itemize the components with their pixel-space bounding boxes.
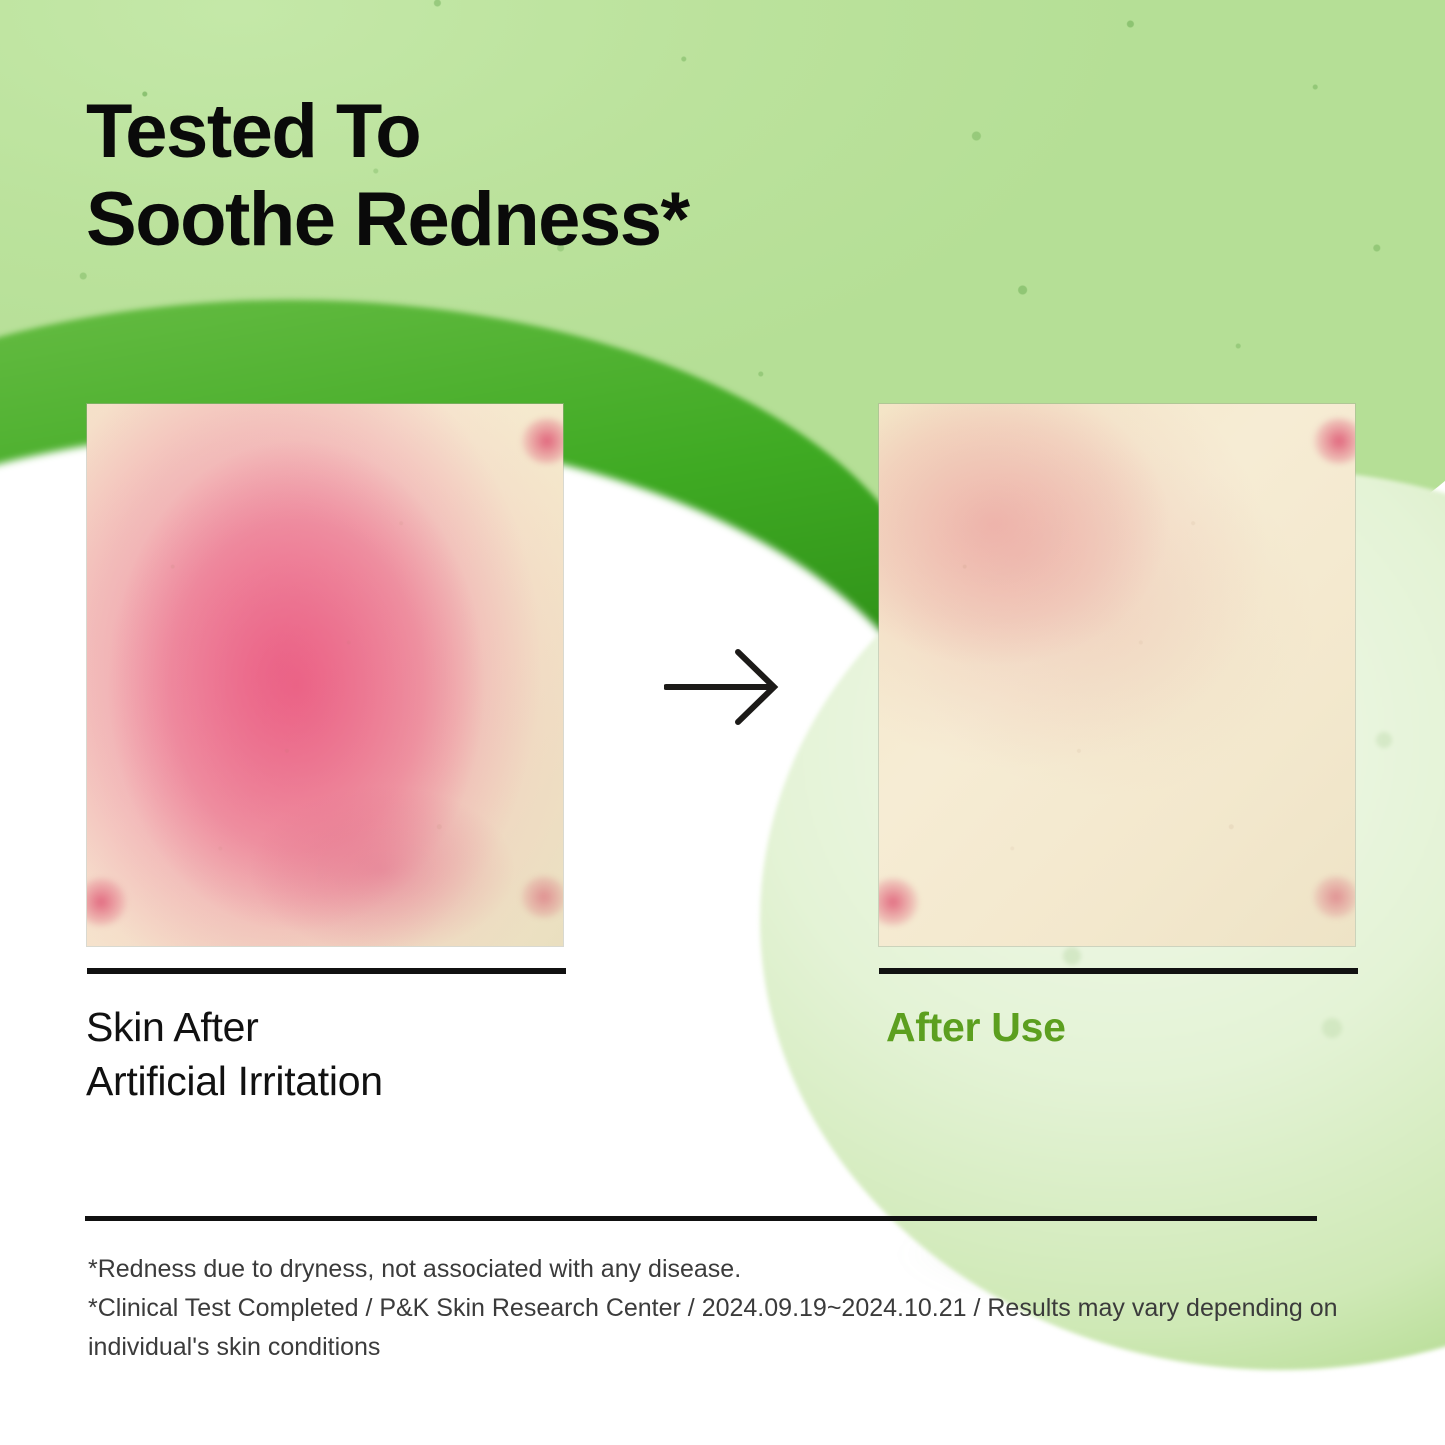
skin-texture-overlay	[87, 404, 563, 946]
after-photo	[878, 403, 1356, 947]
before-photo	[86, 403, 564, 947]
footer-divider	[85, 1216, 1317, 1221]
after-caption-rule	[879, 968, 1358, 974]
red-spot-icon	[521, 876, 564, 918]
footnote-line-1: *Redness due to dryness, not associated …	[88, 1250, 1388, 1289]
after-caption: After Use	[886, 1000, 1066, 1054]
red-spot-icon	[521, 418, 564, 464]
red-spot-icon	[1313, 418, 1356, 464]
footnotes: *Redness due to dryness, not associated …	[88, 1250, 1388, 1367]
red-spot-icon	[1313, 876, 1356, 918]
before-caption: Skin After Artificial Irritation	[86, 1000, 383, 1108]
page-title: Tested To Soothe Redness*	[86, 88, 689, 264]
skin-texture-overlay	[879, 404, 1355, 946]
promo-poster: Tested To Soothe Redness* Skin After Art…	[0, 0, 1445, 1445]
arrow-right-icon	[664, 646, 788, 728]
before-caption-rule	[87, 968, 566, 974]
footnote-line-2: *Clinical Test Completed / P&K Skin Rese…	[88, 1289, 1388, 1367]
poster-content: Tested To Soothe Redness* Skin After Art…	[0, 0, 1445, 1445]
